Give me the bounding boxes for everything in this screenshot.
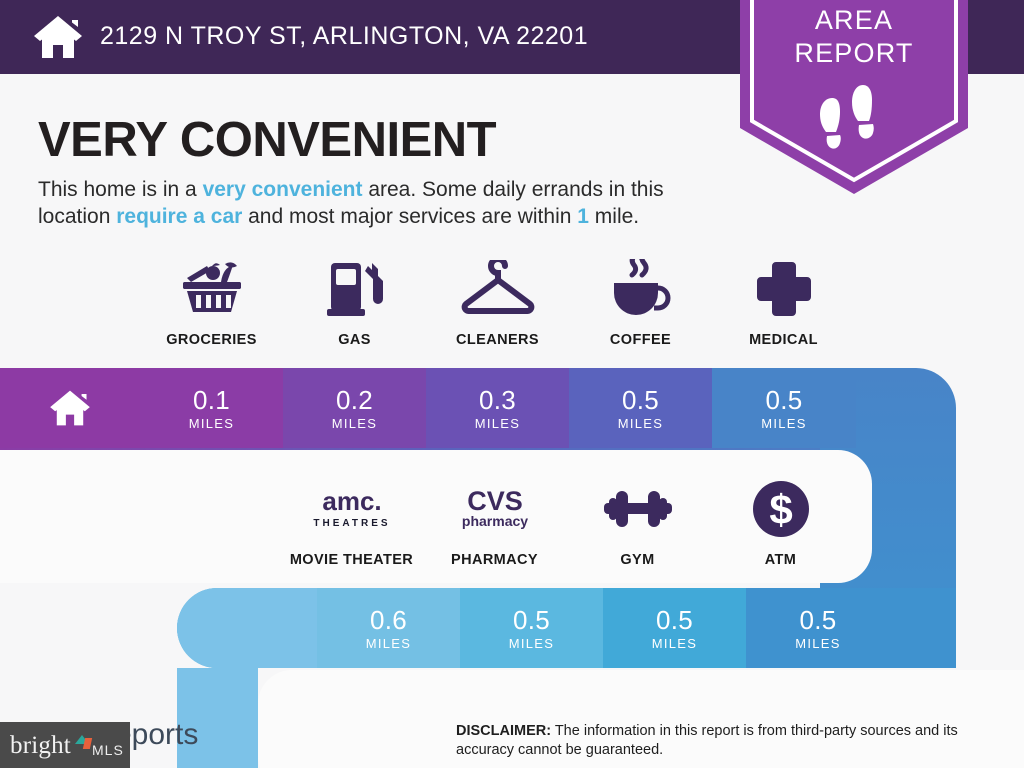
distance-bar-bottom-tail [890,588,956,668]
distance-value: 0.5 [513,605,550,635]
category-label: COFFEE [610,332,671,348]
subtitle-highlight-1: very convenient [203,178,363,201]
distance-value: 0.5 [622,385,659,415]
category-label: PHARMACY [451,552,538,568]
gas-pump-icon [325,258,385,320]
distance-value: 0.6 [370,605,407,635]
distance-cell-gas: 0.2 MILES [283,368,426,448]
bright-logo-mark-orange [83,738,92,749]
grocery-basket-icon [177,258,247,320]
category-icon-row-bottom: amc. THEATRES MOVIE THEATER CVS pharmacy… [280,478,852,568]
disclaimer-label: DISCLAIMER: [456,723,551,739]
subtitle-part-3: and most major services are within [242,205,577,228]
distance-unit: MILES [618,415,664,432]
amc-logo-main: amc. [322,486,381,516]
home-marker-cell [0,368,140,448]
distance-cell-atm: 0.5 MILES [746,588,890,668]
page-subtitle: This home is in a very convenient area. … [38,176,738,230]
category-gym: GYM [566,478,709,568]
subtitle-part-4: mile. [589,205,639,228]
distance-unit: MILES [475,415,521,432]
distance-unit: MILES [189,415,235,432]
distance-value: 0.3 [479,385,516,415]
category-label: GAS [338,332,371,348]
amc-logo-sub: THEATRES [313,518,390,529]
distance-cell-movie-theater: 0.6 MILES [317,588,460,668]
cvs-logo-sub: pharmacy [461,513,527,529]
distance-bar-bottom-lead [177,588,317,668]
distance-unit: MILES [795,635,841,652]
dumbbell-icon [602,478,674,540]
property-address: 2129 N TROY ST, ARLINGTON, VA 22201 [100,22,588,51]
distance-value: 0.5 [656,605,693,635]
distance-cell-gym: 0.5 MILES [603,588,746,668]
distance-value: 0.1 [193,385,230,415]
category-pharmacy: CVS pharmacy PHARMACY [423,478,566,568]
distance-bar-bottom: 0.6 MILES 0.5 MILES 0.5 MILES 0.5 MILES [177,588,956,668]
distance-value: 0.5 [765,385,802,415]
page-title: VERY CONVENIENT [38,112,496,168]
svg-text:$: $ [769,486,792,533]
home-icon [48,389,92,427]
distance-unit: MILES [761,415,807,432]
category-groceries: GROCERIES [140,258,283,348]
area-report-page: 2129 N TROY ST, ARLINGTON, VA 22201 AREA… [0,0,1024,768]
cvs-logo-main: CVS [467,486,523,516]
cvs-pharmacy-logo: CVS pharmacy [445,478,545,540]
bright-mls-logo: bright MLS [0,722,130,768]
category-label: CLEANERS [456,332,539,348]
distance-value: 0.5 [799,605,836,635]
medical-cross-icon [755,258,813,320]
distance-cell-cleaners: 0.3 MILES [426,368,569,448]
distance-cell-medical: 0.5 MILES [712,368,856,448]
category-movie-theater: amc. THEATRES MOVIE THEATER [280,478,423,568]
distance-bar-top: 0.1 MILES 0.2 MILES 0.3 MILES 0.5 MILES … [0,368,856,448]
subtitle-highlight-2: require a car [116,205,242,228]
category-medical: MEDICAL [712,258,855,348]
area-report-badge: AREA REPORT [732,0,976,198]
distance-cell-pharmacy: 0.5 MILES [460,588,603,668]
distance-unit: MILES [366,635,412,652]
distance-cell-groceries: 0.1 MILES [140,368,283,448]
category-cleaners: CLEANERS [426,258,569,348]
coffee-cup-icon [608,258,674,320]
category-icon-row-top: GROCERIES GAS [140,258,855,348]
distance-unit: MILES [652,635,698,652]
distance-cell-coffee: 0.5 MILES [569,368,712,448]
category-label: MEDICAL [749,332,818,348]
category-coffee: COFFEE [569,258,712,348]
distance-unit: MILES [509,635,555,652]
disclaimer: DISCLAIMER: The information in this repo… [456,722,986,760]
bright-logo-word: bright [10,732,71,760]
dollar-coin-icon: $ [752,478,810,540]
category-atm: $ ATM [709,478,852,568]
clothes-hanger-icon [458,258,538,320]
distance-unit: MILES [332,415,378,432]
category-label: MOVIE THEATER [290,552,413,568]
home-icon [32,14,84,60]
subtitle-part-1: This home is in a [38,178,203,201]
category-label: ATM [765,552,797,568]
bright-logo-mls: MLS [92,742,124,758]
category-gas: GAS [283,258,426,348]
subtitle-highlight-3: 1 [577,205,589,228]
distance-value: 0.2 [336,385,373,415]
category-label: GYM [620,552,654,568]
amc-theatres-logo: amc. THEATRES [302,478,402,540]
category-label: GROCERIES [166,332,257,348]
